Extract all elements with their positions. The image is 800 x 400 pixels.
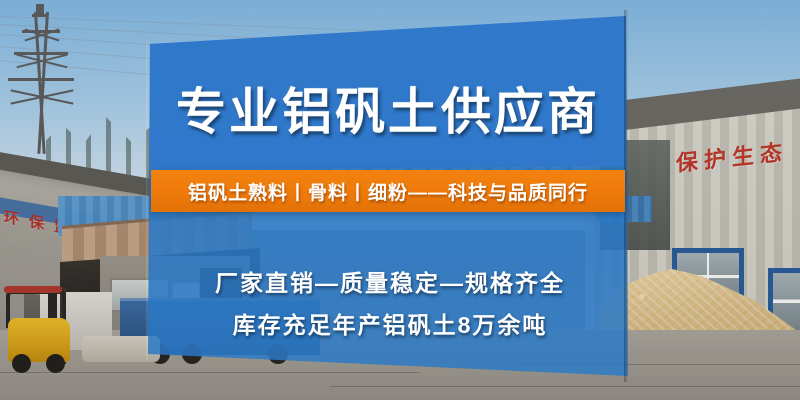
promo-banner: 保护生态 环保监督 安全生产 — [0, 0, 800, 400]
overlay-panel-group: 专业铝矾土供应商 铝矾土熟料丨骨料丨细粉——科技与品质同行 厂家直销—质量稳定—… — [0, 0, 800, 400]
tagline-line-2: 库存充足年产铝矾土8万余吨 — [150, 306, 630, 340]
subtitle-bar-text: 铝矾土熟料丨骨料丨细粉——科技与品质同行 — [151, 170, 625, 212]
page-title: 专业铝矾土供应商 — [148, 82, 628, 142]
tagline-line-1: 厂家直销—质量稳定—规格齐全 — [150, 264, 630, 298]
